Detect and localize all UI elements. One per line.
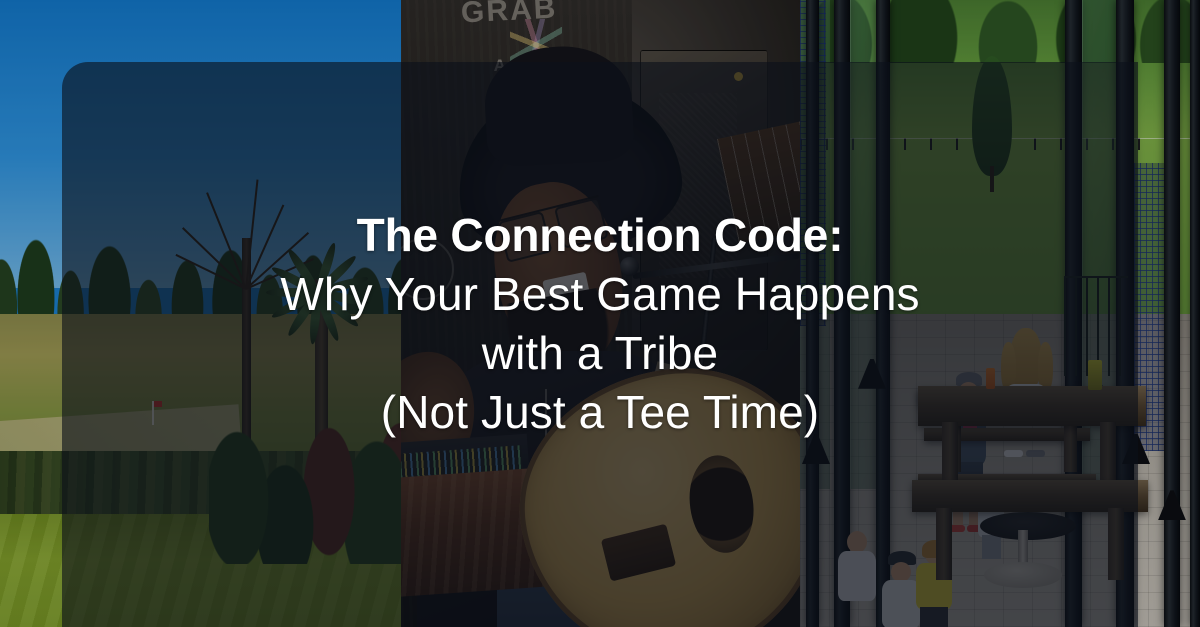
boy-head xyxy=(891,562,911,582)
headline-line-2: Why Your Best Game Happens xyxy=(40,265,1160,324)
headline-line-4: (Not Just a Tee Time) xyxy=(40,383,1160,442)
girl-shoe xyxy=(1026,450,1045,457)
amp-knob xyxy=(734,72,743,81)
bench-leg xyxy=(936,508,952,580)
headline-block: The Connection Code: Why Your Best Game … xyxy=(0,206,1200,442)
headline-line-1: The Connection Code: xyxy=(40,206,1160,265)
boy2-shorts xyxy=(920,607,948,627)
woman-head xyxy=(847,531,867,553)
woman-top xyxy=(838,551,876,601)
boy-white-shirt xyxy=(882,580,920,627)
toddler-shorts xyxy=(982,535,1001,559)
girl-shoe xyxy=(1004,450,1023,457)
hero-banner: Grab A Give it Your Best Shot xyxy=(0,0,1200,627)
headline-line-3: with a Tribe xyxy=(40,324,1160,383)
bench-leg xyxy=(1108,508,1124,580)
person-woman xyxy=(838,531,876,627)
person-boy-cap xyxy=(882,551,920,627)
tyre-weight xyxy=(980,512,1076,540)
umbrella-base xyxy=(984,562,1062,588)
